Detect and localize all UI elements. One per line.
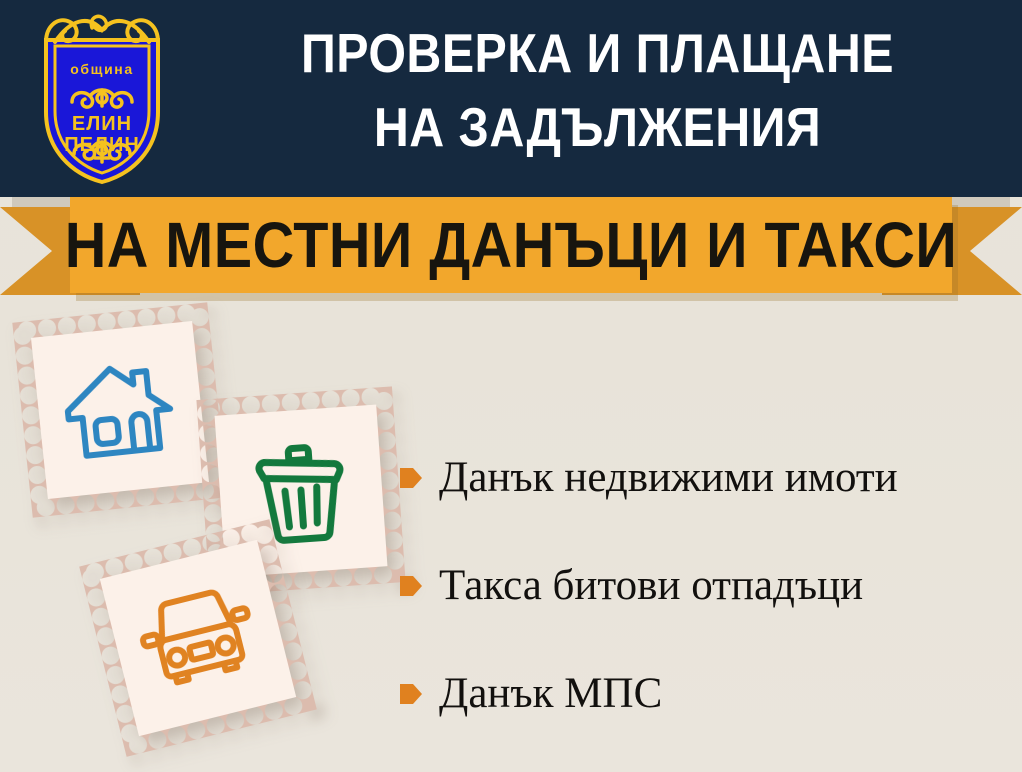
- list-item-label: Такса битови отпадъци: [439, 562, 863, 609]
- list-item-label: Данък МПС: [439, 670, 662, 717]
- stamp-property-tax: [12, 302, 227, 517]
- logo-line-name1: ЕЛИН: [72, 113, 132, 135]
- list-item-label: Данък недвижими имоти: [439, 454, 898, 501]
- arrow-bullet-icon: [400, 574, 422, 598]
- arrow-bullet-icon: [400, 682, 422, 706]
- ribbon-label: НА МЕСТНИ ДАНЪЦИ И ТАКСИ: [114, 197, 908, 293]
- arrow-bullet-icon: [400, 466, 422, 490]
- list-item[interactable]: Данък недвижими имоти: [400, 424, 1010, 532]
- subtitle-ribbon: НА МЕСТНИ ДАНЪЦИ И ТАКСИ: [0, 197, 1022, 307]
- house-icon: [31, 321, 209, 499]
- ribbon-band: НА МЕСТНИ ДАНЪЦИ И ТАКСИ: [70, 197, 952, 293]
- page-title-line-2: НА ЗАДЪЛЖЕНИЯ: [239, 90, 956, 164]
- page-title: ПРОВЕРКА И ПЛАЩАНЕ НА ЗАДЪЛЖЕНИЯ: [239, 16, 956, 164]
- tax-type-list: Данък недвижими имоти Такса битови отпад…: [400, 424, 1010, 748]
- municipality-logo: община ЕЛИН ПЕЛИН: [22, 8, 182, 188]
- page-title-line-1: ПРОВЕРКА И ПЛАЩАНЕ: [301, 22, 894, 84]
- header-bar: община ЕЛИН ПЕЛИН ПРОВЕРКА И ПЛАЩАНЕ НА …: [0, 0, 1022, 197]
- poster-canvas: община ЕЛИН ПЕЛИН ПРОВЕРКА И ПЛАЩАНЕ НА …: [0, 0, 1022, 772]
- logo-line-name2: ПЕЛИН: [64, 134, 140, 156]
- list-item[interactable]: Данък МПС: [400, 640, 1010, 748]
- logo-line-top: община: [70, 61, 133, 77]
- list-item[interactable]: Такса битови отпадъци: [400, 532, 1010, 640]
